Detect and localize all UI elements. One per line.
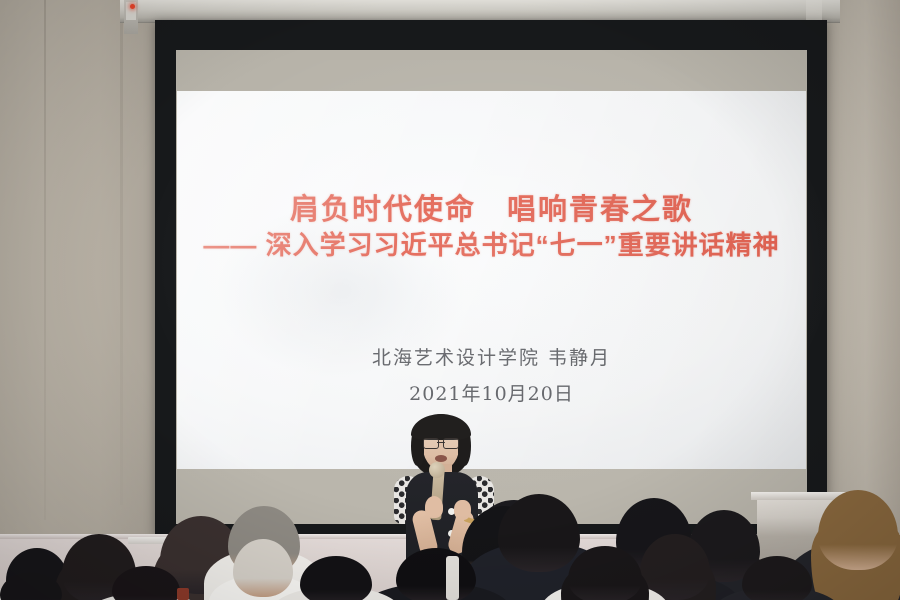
red-cup — [177, 588, 189, 600]
audience-head — [233, 539, 293, 597]
audience-head — [818, 490, 898, 570]
audience-layer — [0, 0, 900, 600]
water-bottle — [446, 556, 459, 600]
audience-head — [498, 494, 580, 572]
audience-head — [300, 556, 372, 600]
lecture-hall-scene: 肩负时代使命 唱响青春之歌 —— 深入学习习近平总书记“七一”重要讲话精神 北海… — [0, 0, 900, 600]
